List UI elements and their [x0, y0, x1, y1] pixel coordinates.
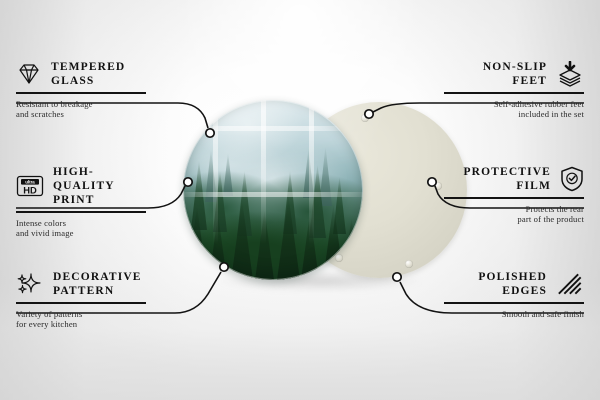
divider	[444, 302, 584, 304]
feature-desc-line2: and scratches	[16, 109, 146, 120]
callout-node-tempered-glass	[206, 129, 214, 137]
callout-node-high-quality-print	[184, 178, 192, 186]
feature-non-slip-feet: NON-SLIP FEET Self-adhesive rubber feet …	[444, 60, 584, 120]
callout-node-polished-edges	[393, 273, 401, 281]
ultra-hd-icon: ultra HD	[16, 174, 44, 198]
feature-protective-film: PROTECTIVE FILM Protects the rear part o…	[444, 165, 584, 225]
divider	[16, 302, 146, 304]
divider	[16, 92, 146, 94]
feature-title-line2: PATTERN	[53, 284, 142, 298]
feature-desc-line1: Protects the rear	[444, 204, 584, 215]
feature-title-line1: PROTECTIVE	[463, 165, 551, 179]
feature-desc-line2: and vivid image	[16, 228, 146, 239]
callout-node-protective-film	[428, 178, 436, 186]
feature-title-line2: FEET	[483, 74, 547, 88]
ultra-hd-icon-large-label: HD	[23, 184, 37, 195]
feature-title-line1: TEMPERED	[51, 60, 125, 74]
feature-polished-edges: POLISHED EDGES Smooth and safe finish	[444, 270, 584, 319]
feature-title-line2: PRINT	[53, 193, 146, 207]
feature-desc-line1: Smooth and safe finish	[444, 309, 584, 320]
divider	[444, 197, 584, 199]
diagonal-lines-icon	[556, 272, 584, 296]
divider	[444, 92, 584, 94]
infographic-canvas: TEMPERED GLASS Resistant to breakage and…	[0, 0, 600, 400]
feature-decorative-pattern: DECORATIVE PATTERN Variety of patterns f…	[16, 270, 146, 330]
feature-desc-line2: included in the set	[444, 109, 584, 120]
feature-high-quality-print: ultra HD HIGH-QUALITY PRINT Intense colo…	[16, 165, 146, 239]
callout-node-non-slip-feet	[365, 110, 373, 118]
shield-check-icon	[560, 166, 584, 192]
callout-node-decorative-pattern	[220, 263, 228, 271]
feature-title-line2: EDGES	[478, 284, 547, 298]
feature-title-line2: FILM	[463, 179, 551, 193]
feature-title-line1: NON-SLIP	[483, 60, 547, 74]
feature-desc-line1: Self-adhesive rubber feet	[444, 99, 584, 110]
sparkles-icon	[16, 272, 44, 296]
feature-title-line2: GLASS	[51, 74, 125, 88]
diamond-icon	[16, 62, 42, 86]
feature-desc-line1: Variety of patterns	[16, 309, 146, 320]
arrow-onto-pad-icon	[556, 61, 584, 87]
feature-title-line1: HIGH-QUALITY	[53, 165, 146, 193]
feature-desc-line2: part of the product	[444, 214, 584, 225]
feature-desc-line2: for every kitchen	[16, 319, 146, 330]
feature-desc-line1: Resistant to breakage	[16, 99, 146, 110]
feature-title-line1: POLISHED	[478, 270, 547, 284]
divider	[16, 211, 146, 213]
feature-desc-line1: Intense colors	[16, 218, 146, 229]
feature-title-line1: DECORATIVE	[53, 270, 142, 284]
feature-tempered-glass: TEMPERED GLASS Resistant to breakage and…	[16, 60, 146, 120]
